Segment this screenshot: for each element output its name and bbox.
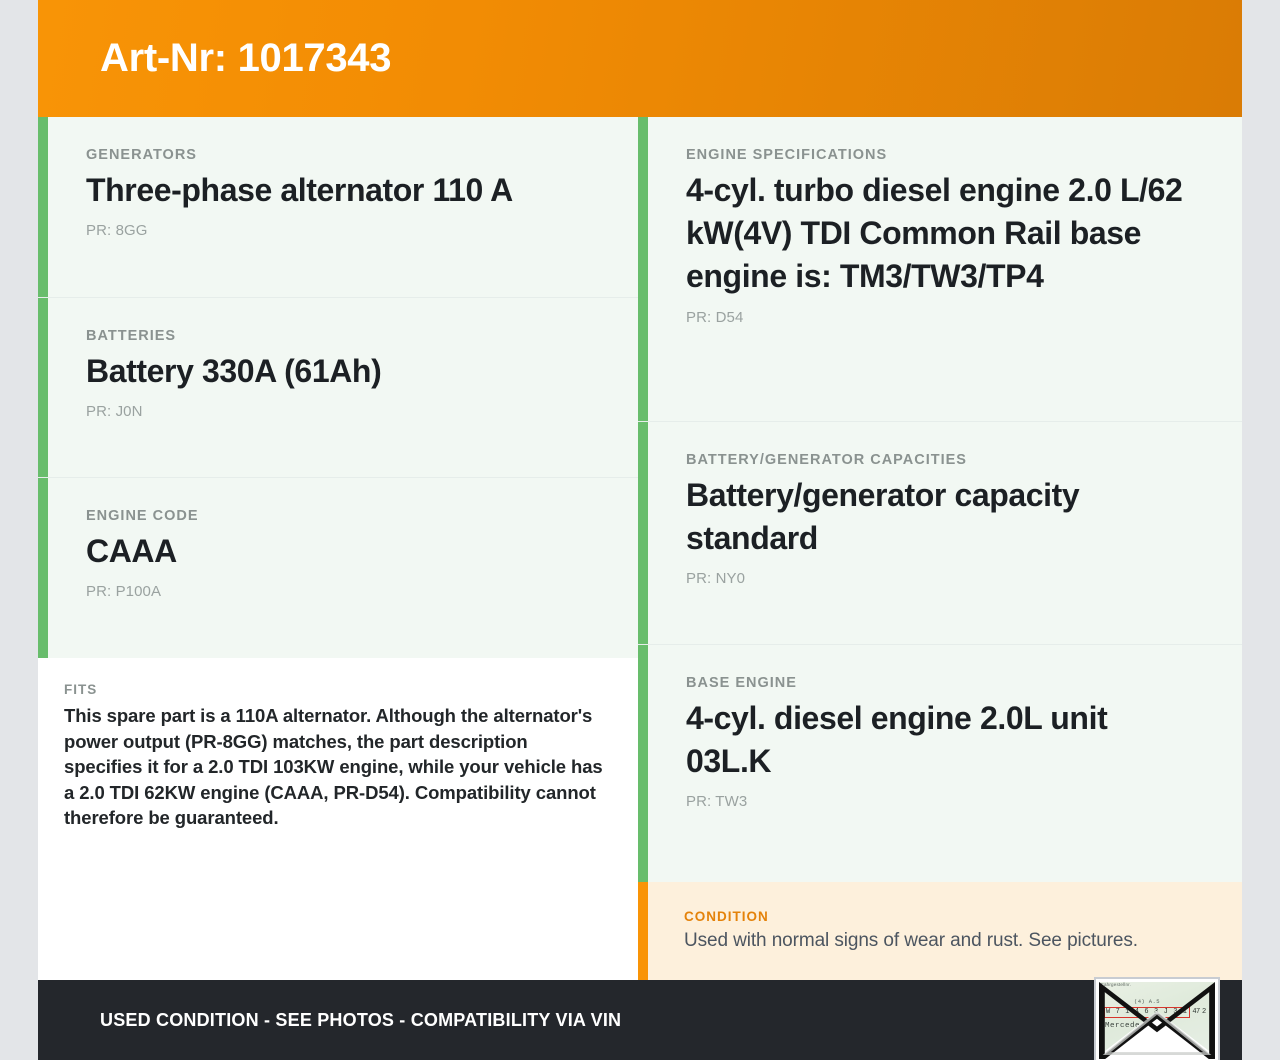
spec-label: BATTERIES bbox=[86, 328, 592, 344]
spec-label: BATTERY/GENERATOR CAPACITIES bbox=[686, 452, 1196, 468]
spec-value: Three-phase alternator 110 A bbox=[86, 169, 592, 212]
fits-card: FITS This spare part is a 110A alternato… bbox=[38, 658, 638, 980]
spec-value: Battery 330A (61Ah) bbox=[86, 350, 592, 393]
vin-document-thumbnail[interactable]: Fahrgestellnr. (4) A.5 W 7 1 4 6 3 J 3 1… bbox=[1094, 977, 1220, 1060]
spec-columns: GENERATORS Three-phase alternator 110 A … bbox=[38, 117, 1242, 980]
spec-card-battery-generator-capacities[interactable]: BATTERY/GENERATOR CAPACITIES Battery/gen… bbox=[638, 422, 1242, 645]
spec-label: GENERATORS bbox=[86, 147, 592, 163]
condition-text: Used with normal signs of wear and rust.… bbox=[684, 930, 1202, 952]
spec-card-engine-code[interactable]: ENGINE CODE CAAA PR: P100A bbox=[38, 478, 638, 658]
spec-pr-code: PR: TW3 bbox=[686, 793, 1196, 810]
spec-label: ENGINE CODE bbox=[86, 508, 592, 524]
spec-card-base-engine[interactable]: BASE ENGINE 4-cyl. diesel engine 2.0L un… bbox=[638, 645, 1242, 882]
spec-card-engine-specifications[interactable]: ENGINE SPECIFICATIONS 4-cyl. turbo diese… bbox=[638, 117, 1242, 422]
spec-pr-code: PR: NY0 bbox=[686, 570, 1196, 587]
spec-pr-code: PR: 8GG bbox=[86, 222, 592, 239]
spec-pr-code: PR: D54 bbox=[686, 309, 1196, 326]
spec-card-batteries[interactable]: BATTERIES Battery 330A (61Ah) PR: J0N bbox=[38, 298, 638, 478]
footer-text: USED CONDITION - SEE PHOTOS - COMPATIBIL… bbox=[100, 1010, 621, 1031]
footer-bar: USED CONDITION - SEE PHOTOS - COMPATIBIL… bbox=[38, 980, 1242, 1060]
fits-label: FITS bbox=[64, 682, 608, 697]
part-info-card: Art-Nr: 1017343 GENERATORS Three-phase a… bbox=[38, 0, 1242, 1060]
condition-card: CONDITION Used with normal signs of wear… bbox=[638, 882, 1242, 980]
right-column: ENGINE SPECIFICATIONS 4-cyl. turbo diese… bbox=[638, 117, 1242, 980]
spec-label: ENGINE SPECIFICATIONS bbox=[686, 147, 1196, 163]
spec-label: BASE ENGINE bbox=[686, 675, 1196, 691]
page-title: Art-Nr: 1017343 bbox=[38, 36, 391, 81]
left-column: GENERATORS Three-phase alternator 110 A … bbox=[38, 117, 638, 980]
spec-value: 4-cyl. turbo diesel engine 2.0 L/62 kW(4… bbox=[686, 169, 1196, 299]
spec-value: Battery/generator capacity standard bbox=[686, 474, 1196, 560]
fits-text: This spare part is a 110A alternator. Al… bbox=[64, 703, 608, 831]
spec-card-generators[interactable]: GENERATORS Three-phase alternator 110 A … bbox=[38, 117, 638, 298]
spec-value: 4-cyl. diesel engine 2.0L unit 03L.K bbox=[686, 697, 1196, 783]
condition-label: CONDITION bbox=[684, 909, 1202, 924]
envelope-icon bbox=[1099, 982, 1215, 1059]
spec-pr-code: PR: P100A bbox=[86, 583, 592, 600]
spec-value: CAAA bbox=[86, 530, 592, 573]
spec-pr-code: PR: J0N bbox=[86, 403, 592, 420]
header-bar: Art-Nr: 1017343 bbox=[38, 0, 1242, 117]
